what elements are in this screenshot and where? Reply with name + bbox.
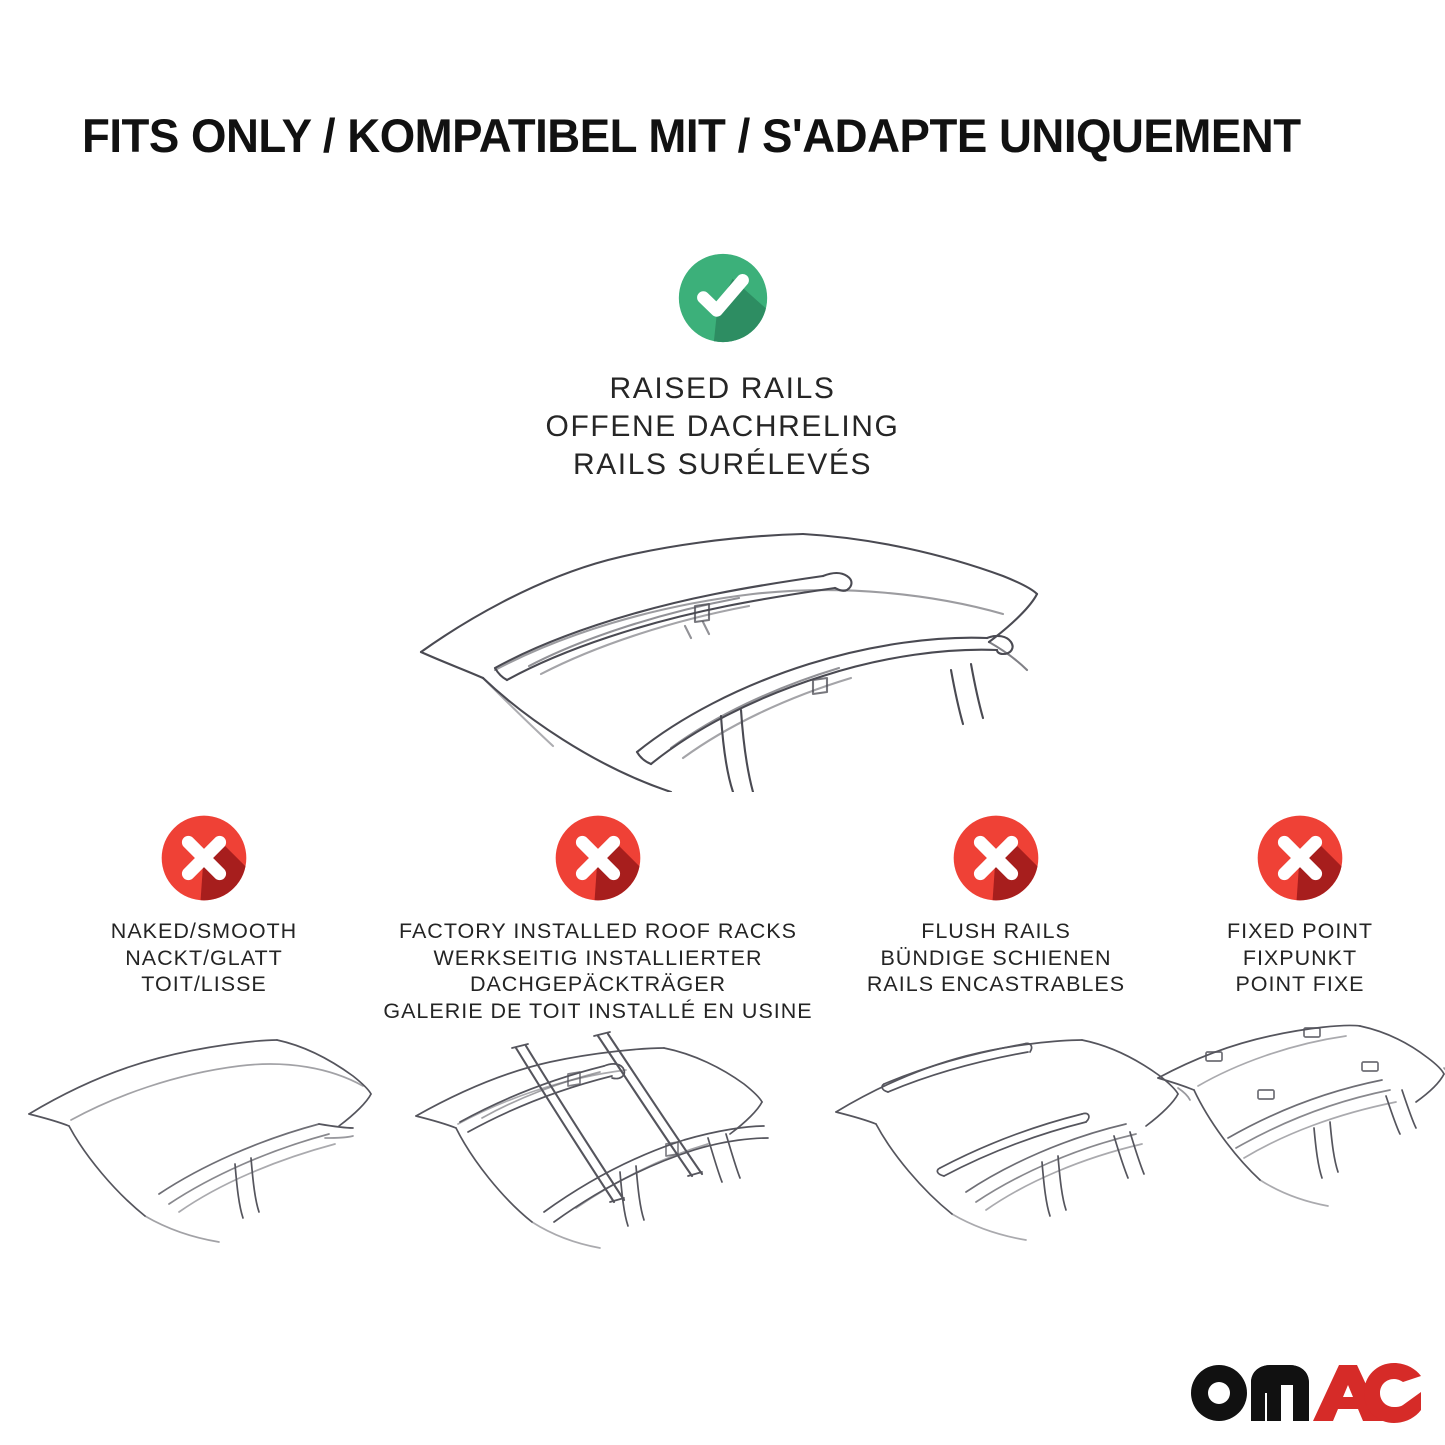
caption-line: RAILS ENCASTRABLES xyxy=(826,971,1166,998)
incompatible-section: NAKED/SMOOTH NACKT/GLATT TOIT/LISSE xyxy=(0,812,1445,1282)
car-roof-naked-smooth-line-drawing xyxy=(19,1016,389,1246)
red-x-circle-icon xyxy=(552,812,644,904)
compatible-line-de: OFFENE DACHRELING xyxy=(0,408,1445,446)
incompatible-caption: FACTORY INSTALLED ROOF RACKS WERKSEITIG … xyxy=(368,918,828,1024)
fitment-compatibility-infographic: FITS ONLY / KOMPATIBEL MIT / S'ADAPTE UN… xyxy=(0,0,1445,1445)
logo-letter-m xyxy=(1251,1365,1309,1421)
caption-line: NACKT/GLATT xyxy=(14,945,394,972)
compatible-line-en: RAISED RAILS xyxy=(0,370,1445,408)
car-roof-fixed-point-line-drawing xyxy=(1154,1016,1445,1246)
caption-line: FIXPUNKT xyxy=(1154,945,1445,972)
incompatible-item-factory-installed-roof-racks: FACTORY INSTALLED ROOF RACKS WERKSEITIG … xyxy=(368,812,828,1266)
caption-line: FLUSH RAILS xyxy=(826,918,1166,945)
caption-line: TOIT/LISSE xyxy=(14,971,394,998)
car-roof-factory-roof-racks-line-drawing xyxy=(408,1026,788,1266)
caption-line: BÜNDIGE SCHIENEN xyxy=(826,945,1166,972)
car-roof-with-raised-rails-line-drawing xyxy=(403,502,1043,792)
incompatible-caption: FIXED POINT FIXPUNKT POINT FIXE xyxy=(1154,918,1445,998)
incompatible-item-fixed-point: FIXED POINT FIXPUNKT POINT FIXE xyxy=(1154,812,1445,1246)
compatible-line-fr: RAILS SURÉLEVÉS xyxy=(0,446,1445,484)
incompatible-item-naked-smooth: NAKED/SMOOTH NACKT/GLATT TOIT/LISSE xyxy=(14,812,394,1246)
incompatible-item-flush-rails: FLUSH RAILS BÜNDIGE SCHIENEN RAILS ENCAS… xyxy=(826,812,1166,1246)
caption-line: NAKED/SMOOTH xyxy=(14,918,394,945)
incompatible-caption: FLUSH RAILS BÜNDIGE SCHIENEN RAILS ENCAS… xyxy=(826,918,1166,998)
caption-line: FACTORY INSTALLED ROOF RACKS xyxy=(368,918,828,945)
caption-line: WERKSEITIG INSTALLIERTER xyxy=(368,945,828,972)
compatible-section: RAISED RAILS OFFENE DACHRELING RAILS SUR… xyxy=(0,250,1445,792)
incompatible-caption: NAKED/SMOOTH NACKT/GLATT TOIT/LISSE xyxy=(14,918,394,998)
logo-letter-c xyxy=(1364,1363,1421,1423)
caption-line: POINT FIXE xyxy=(1154,971,1445,998)
caption-line: DACHGEPÄCKTRÄGER xyxy=(368,971,828,998)
red-x-circle-icon xyxy=(158,812,250,904)
red-x-circle-icon xyxy=(1254,812,1346,904)
page-title: FITS ONLY / KOMPATIBEL MIT / S'ADAPTE UN… xyxy=(82,108,1333,164)
caption-line: GALERIE DE TOIT INSTALLÉ EN USINE xyxy=(368,998,828,1025)
omac-logo xyxy=(1189,1359,1421,1427)
caption-line: FIXED POINT xyxy=(1154,918,1445,945)
car-roof-flush-rails-line-drawing xyxy=(826,1016,1196,1246)
logo-letter-o xyxy=(1191,1365,1247,1421)
red-x-circle-icon xyxy=(950,812,1042,904)
compatible-caption: RAISED RAILS OFFENE DACHRELING RAILS SUR… xyxy=(0,370,1445,484)
green-check-circle-icon xyxy=(675,250,771,346)
